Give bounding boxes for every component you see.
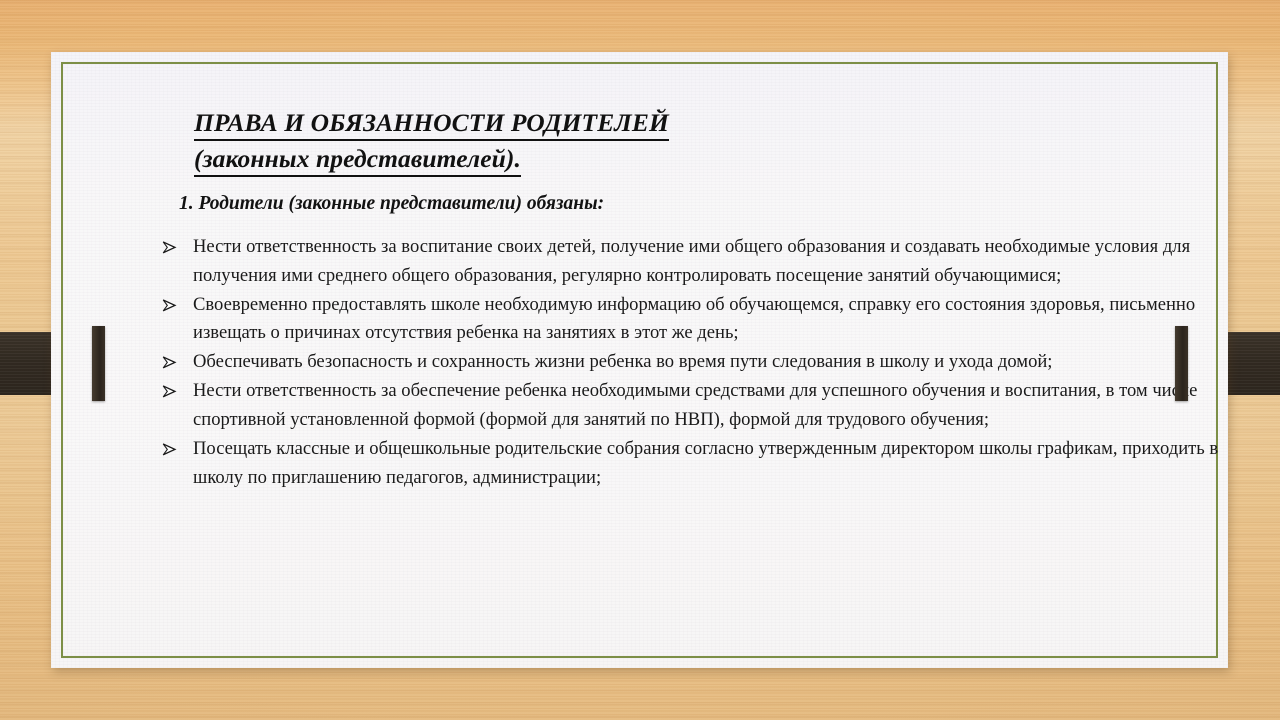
slide-subtitle: 1. Родители (законные представители) обя… [179, 192, 604, 216]
slide-title: ПРАВА И ОБЯЗАННОСТИ РОДИТЕЛЕЙ (законных … [194, 108, 1014, 177]
slide-content-card: ПРАВА И ОБЯЗАННОСТИ РОДИТЕЛЕЙ (законных … [51, 52, 1228, 668]
arrowhead-bullet-icon [162, 377, 184, 398]
list-item: Обеспечивать безопасность и сохранность … [161, 348, 1221, 377]
arrowhead-bullet-icon [162, 435, 184, 456]
decorative-band-cap-left [92, 326, 105, 401]
slide-body: ПРАВА И ОБЯЗАННОСТИ РОДИТЕЛЕЙ (законных … [51, 52, 1228, 668]
list-item: Нести ответственность за воспитание свои… [161, 233, 1221, 290]
list-item-text: Посещать классные и общешкольные родител… [193, 438, 1218, 488]
slide-title-line-2-text: (законных представителей). [194, 144, 521, 177]
list-item: Нести ответственность за обеспечение реб… [161, 377, 1221, 434]
list-item-text: Нести ответственность за обеспечение реб… [193, 380, 1197, 430]
list-item: Посещать классные и общешкольные родител… [161, 435, 1221, 492]
slide-title-line-2: (законных представителей). [194, 144, 1014, 177]
list-item-text: Обеспечивать безопасность и сохранность … [193, 351, 1052, 372]
presentation-slide: ПРАВА И ОБЯЗАННОСТИ РОДИТЕЛЕЙ (законных … [0, 0, 1280, 720]
slide-title-line-1: ПРАВА И ОБЯЗАННОСТИ РОДИТЕЛЕЙ [194, 108, 1014, 141]
obligations-list: Нести ответственность за воспитание свои… [161, 233, 1221, 493]
list-item-text: Нести ответственность за воспитание свои… [193, 236, 1190, 286]
arrowhead-bullet-icon [162, 233, 184, 254]
list-item: Своевременно предоставлять школе необход… [161, 291, 1221, 348]
decorative-band-cap-right [1175, 326, 1188, 401]
arrowhead-bullet-icon [162, 291, 184, 312]
arrowhead-bullet-icon [162, 348, 184, 369]
slide-title-line-1-text: ПРАВА И ОБЯЗАННОСТИ РОДИТЕЛЕЙ [194, 108, 669, 141]
list-item-text: Своевременно предоставлять школе необход… [193, 294, 1195, 344]
